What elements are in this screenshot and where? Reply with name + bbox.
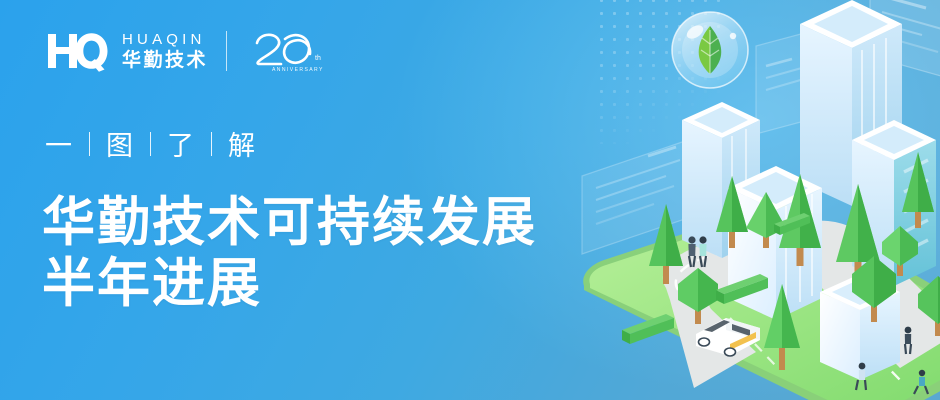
title-line-2: 半年进展 (42, 253, 537, 314)
brand-logo: HUAQIN 华勤技术 th ANNIVERSARY (46, 28, 325, 74)
eyebrow-line: 一 图 了 解 (45, 124, 256, 163)
brand-text: HUAQIN 华勤技术 (122, 32, 208, 70)
page-title: 华勤技术可持续发展 半年进展 (42, 192, 537, 315)
sustainability-banner: HUAQIN 华勤技术 th ANNIVERSARY 一 图 了 解 (0, 0, 940, 400)
eyebrow-char-4: 解 (228, 124, 256, 163)
leaf-in-bubble-icon (672, 12, 748, 88)
20th-anniversary-icon: th ANNIVERSARY (247, 28, 325, 74)
eyebrow-separator-icon (150, 132, 151, 156)
brand-name-cn: 华勤技术 (122, 51, 208, 70)
brand-name-en: HUAQIN (122, 32, 208, 47)
eyebrow-separator-icon (89, 132, 90, 156)
svg-text:th: th (315, 55, 321, 62)
isometric-green-city-illustration (570, 0, 940, 400)
title-line-1: 华勤技术可持续发展 (42, 193, 537, 252)
vertical-divider-icon (226, 31, 227, 71)
eyebrow-char-3: 了 (167, 124, 195, 163)
eyebrow-separator-icon (211, 132, 212, 156)
eyebrow-char-2: 图 (106, 124, 134, 163)
svg-text:ANNIVERSARY: ANNIVERSARY (272, 67, 324, 73)
hq-monogram-icon (46, 30, 108, 72)
eyebrow-char-1: 一 (45, 124, 73, 163)
